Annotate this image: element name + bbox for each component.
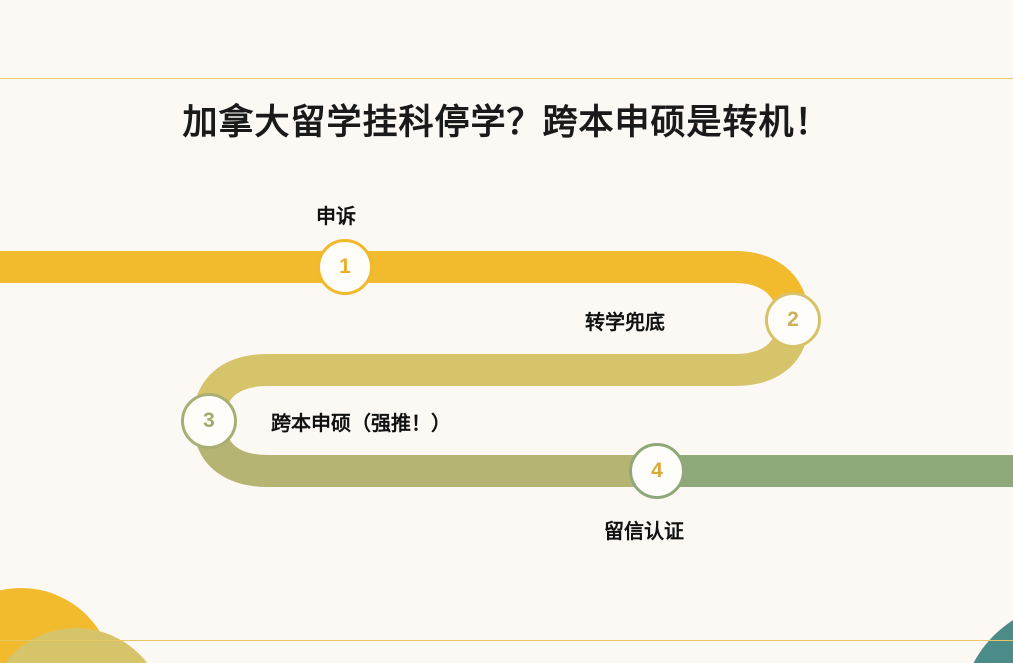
step-node-4-number: 4 [651, 459, 663, 483]
step-label-3: 跨本申硕（强推！） [271, 407, 451, 436]
slide-canvas: 加拿大留学挂科停学？跨本申硕是转机！ 1 申诉 2 转学兜底 3 跨本申硕（强推… [0, 0, 1013, 663]
step-label-1: 申诉 [316, 200, 356, 229]
step-label-4: 留信认证 [604, 515, 684, 544]
step-node-2[interactable]: 2 [765, 292, 821, 348]
step-node-4[interactable]: 4 [629, 443, 685, 499]
step-node-1[interactable]: 1 [317, 239, 373, 295]
step-node-2-number: 2 [787, 308, 799, 332]
step-label-2: 转学兜底 [585, 306, 665, 335]
track-segment-start-2 [0, 267, 793, 320]
serpentine-path [0, 0, 1013, 663]
step-node-1-number: 1 [339, 255, 351, 279]
track-segment-2-3 [209, 320, 793, 421]
step-node-3-number: 3 [203, 409, 215, 433]
step-node-3[interactable]: 3 [181, 393, 237, 449]
